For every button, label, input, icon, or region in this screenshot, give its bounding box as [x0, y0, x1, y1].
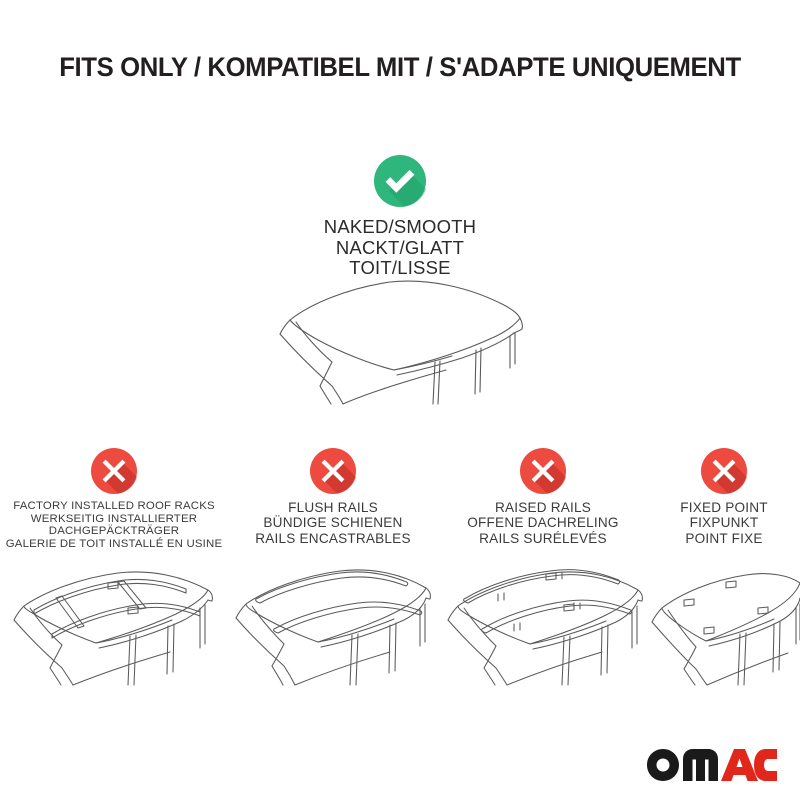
roof-type-label-1: FIXED POINT: [648, 500, 800, 515]
x-circle-icon: [91, 448, 137, 494]
approved-labels: NAKED/SMOOTH NACKT/GLATT TOIT/LISSE: [250, 217, 550, 279]
roof-type-label-3: DACHGEPÄCKTRÄGER: [0, 525, 228, 538]
approved-label-2: NACKT/GLATT: [250, 238, 550, 259]
roof-type-label-1: FLUSH RAILS: [228, 500, 438, 515]
roof-type-label-3: POINT FIXE: [648, 531, 800, 546]
roof-type-label-2: WERKSEITIG INSTALLIERTER: [0, 513, 228, 526]
car-roof-fixed-point-illustration: [648, 556, 800, 686]
omac-logo: [646, 748, 778, 782]
x-circle-icon: [520, 448, 566, 494]
page-title: FITS ONLY / KOMPATIBEL MIT / S'ADAPTE UN…: [12, 52, 788, 83]
roof-type-label-1: FACTORY INSTALLED ROOF RACKS: [0, 500, 228, 513]
roof-type-label-2: OFFENE DACHRELING: [438, 515, 648, 530]
x-circle-icon: [701, 448, 747, 494]
roof-type-factory-installed-roof-racks: FACTORY INSTALLED ROOF RACKS WERKSEITIG …: [0, 448, 228, 698]
car-roof-naked-smooth-illustration: [270, 276, 540, 406]
roof-type-fixed-point: FIXED POINT FIXPUNKT POINT FIXE: [648, 448, 800, 698]
roof-type-label-1: RAISED RAILS: [438, 500, 648, 515]
x-circle-icon: [310, 448, 356, 494]
roof-type-label-3: RAILS ENCASTRABLES: [228, 531, 438, 546]
check-circle-icon: [374, 155, 426, 207]
car-roof-raised-rails-illustration: [438, 556, 648, 686]
roof-type-raised-rails: RAISED RAILS OFFENE DACHRELING RAILS SUR…: [438, 448, 648, 698]
incompatible-roof-types: FACTORY INSTALLED ROOF RACKS WERKSEITIG …: [0, 448, 800, 698]
approved-roof-type: NAKED/SMOOTH NACKT/GLATT TOIT/LISSE: [250, 155, 550, 279]
roof-type-label-2: FIXPUNKT: [648, 515, 800, 530]
approved-label-1: NAKED/SMOOTH: [250, 217, 550, 238]
car-roof-factory-racks-illustration: [0, 556, 228, 686]
roof-type-label-2: BÜNDIGE SCHIENEN: [228, 515, 438, 530]
roof-type-labels: RAISED RAILS OFFENE DACHRELING RAILS SUR…: [438, 500, 648, 546]
roof-type-labels: FIXED POINT FIXPUNKT POINT FIXE: [648, 500, 800, 546]
roof-type-labels: FACTORY INSTALLED ROOF RACKS WERKSEITIG …: [0, 500, 228, 550]
car-roof-flush-rails-illustration: [228, 556, 438, 686]
roof-type-labels: FLUSH RAILS BÜNDIGE SCHIENEN RAILS ENCAS…: [228, 500, 438, 546]
roof-type-label-3: RAILS SURÉLEVÉS: [438, 531, 648, 546]
roof-type-label-4: GALERIE DE TOIT INSTALLÉ EN USINE: [0, 538, 228, 551]
roof-type-flush-rails: FLUSH RAILS BÜNDIGE SCHIENEN RAILS ENCAS…: [228, 448, 438, 698]
